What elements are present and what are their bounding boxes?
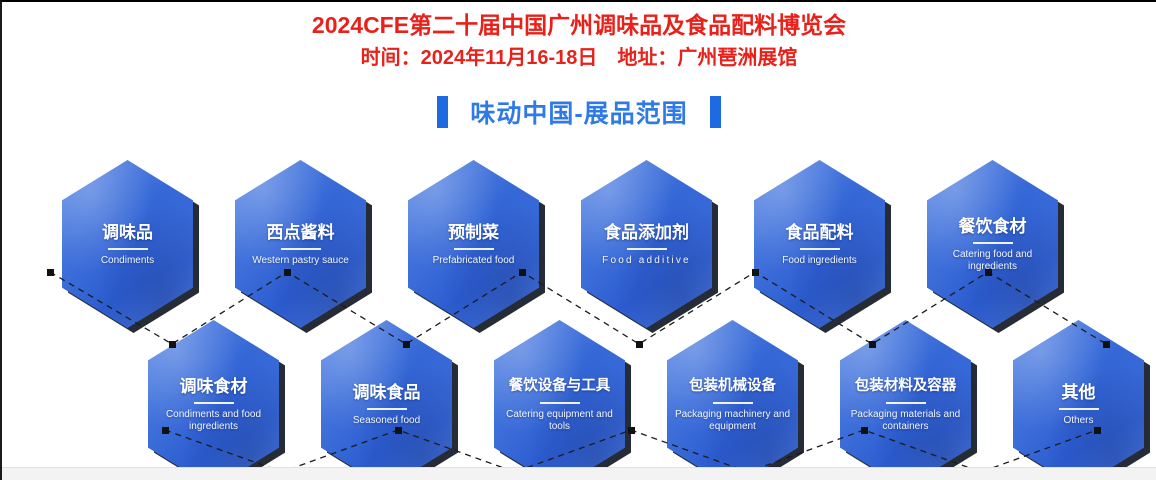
hex-tile-content: 调味品Condiments: [66, 222, 189, 267]
selection-handle[interactable]: [395, 427, 402, 434]
header-block: 2024CFE第二十届中国广州调味品及食品配料博览会 时间：2024年11月16…: [2, 10, 1156, 71]
hex-tile-label-en: Condiments and food ingredients: [152, 409, 275, 433]
hex-tile-label-cn: 食品配料: [758, 222, 881, 243]
hex-tile-label-en: Others: [1017, 415, 1140, 427]
footer-bar: [2, 467, 1156, 480]
hex-tile-label-en: Prefabricated food: [412, 255, 535, 267]
hex-tile-divider: [194, 402, 234, 404]
hex-tile-content: 包装材料及容器Packaging materials and container…: [844, 376, 967, 433]
hex-tile-label-cn: 食品添加剂: [585, 222, 708, 243]
hex-tile[interactable]: 调味食材Condiments and food ingredients: [148, 320, 279, 480]
hex-tile-divider: [367, 408, 407, 410]
hex-tile[interactable]: 其他Others: [1013, 320, 1144, 480]
selection-handle[interactable]: [169, 341, 176, 348]
hex-tile-divider: [713, 402, 753, 404]
hex-tile-label-cn: 餐饮设备与工具: [498, 376, 621, 397]
event-date-venue: 时间：2024年11月16-18日 地址：广州琶洲展馆: [2, 45, 1156, 71]
hex-tile-label-cn: 包装材料及容器: [844, 376, 967, 397]
hex-tile-label-en: Catering equipment and tools: [498, 409, 621, 433]
hex-tile-label-cn: 调味食品: [325, 382, 448, 403]
selection-handle[interactable]: [519, 269, 526, 276]
hex-tile-content: 调味食品Seasoned food: [325, 382, 448, 427]
selection-handle[interactable]: [162, 427, 169, 434]
slide-canvas: 2024CFE第二十届中国广州调味品及食品配料博览会 时间：2024年11月16…: [0, 0, 1156, 480]
hex-tile-label-cn: 调味食材: [152, 376, 275, 397]
selection-handle[interactable]: [985, 269, 992, 276]
selection-handle[interactable]: [1094, 427, 1101, 434]
hex-tile[interactable]: 包装材料及容器Packaging materials and container…: [840, 320, 971, 480]
hex-tile-divider: [886, 402, 926, 404]
hex-tile-label-en: Condiments: [66, 255, 189, 267]
hex-tile-divider: [1059, 408, 1099, 410]
hex-tile[interactable]: 调味食品Seasoned food: [321, 320, 452, 480]
hex-tile[interactable]: 包装机械设备Packaging machinery and equipment: [667, 320, 798, 480]
selection-handle[interactable]: [284, 269, 291, 276]
hex-tile-content: 食品配料Food ingredients: [758, 222, 881, 267]
hex-tile-divider: [454, 248, 494, 250]
hex-tile-label-cn: 预制菜: [412, 222, 535, 243]
selection-handle[interactable]: [403, 341, 410, 348]
bar-left-icon: [437, 96, 448, 128]
hex-tile-label-cn: 餐饮食材: [931, 216, 1054, 237]
selection-handle[interactable]: [47, 269, 54, 276]
hex-tile-divider: [800, 248, 840, 250]
hex-tile-content: 食品添加剂Food additive: [585, 222, 708, 267]
hex-grid: 调味品Condiments西点酱料Western pastry sauce预制菜…: [2, 2, 1156, 472]
hex-tile-content: 餐饮食材Catering food and ingredients: [931, 216, 1054, 273]
hex-tile-label-cn: 包装机械设备: [671, 376, 794, 397]
hex-tile-content: 餐饮设备与工具Catering equipment and tools: [498, 376, 621, 433]
selection-handle[interactable]: [636, 341, 643, 348]
hex-tile-divider: [281, 248, 321, 250]
selection-handle[interactable]: [861, 427, 868, 434]
selection-handle[interactable]: [1103, 341, 1110, 348]
hex-tile-label-en: Food additive: [585, 255, 708, 267]
hex-tile-label-en: Seasoned food: [325, 415, 448, 427]
selection-handle[interactable]: [752, 269, 759, 276]
hex-tile[interactable]: 餐饮设备与工具Catering equipment and tools: [494, 320, 625, 480]
hex-tile-content: 其他Others: [1017, 382, 1140, 427]
hex-tile-label-en: Catering food and ingredients: [931, 249, 1054, 273]
hex-tile-label-en: Food ingredients: [758, 255, 881, 267]
bar-right-icon: [710, 96, 721, 128]
hex-tile-label-cn: 调味品: [66, 222, 189, 243]
hex-tile-label-en: Western pastry sauce: [239, 255, 362, 267]
hex-tile-content: 调味食材Condiments and food ingredients: [152, 376, 275, 433]
hex-tile-content: 西点酱料Western pastry sauce: [239, 222, 362, 267]
selection-handle[interactable]: [869, 341, 876, 348]
section-heading: 味动中国-展品范围: [2, 94, 1156, 130]
hex-tile-content: 预制菜Prefabricated food: [412, 222, 535, 267]
hex-tile-divider: [627, 248, 667, 250]
hex-tile-label-cn: 其他: [1017, 382, 1140, 403]
hex-tile-divider: [540, 402, 580, 404]
hex-tile-content: 包装机械设备Packaging machinery and equipment: [671, 376, 794, 433]
page-title: 2024CFE第二十届中国广州调味品及食品配料博览会: [2, 10, 1156, 40]
hex-tile-divider: [973, 242, 1013, 244]
hex-tile-label-cn: 西点酱料: [239, 222, 362, 243]
section-heading-label: 味动中国-展品范围: [470, 94, 687, 130]
hex-tile-label-en: Packaging machinery and equipment: [671, 409, 794, 433]
hex-tile-divider: [108, 248, 148, 250]
selection-handle[interactable]: [628, 427, 635, 434]
